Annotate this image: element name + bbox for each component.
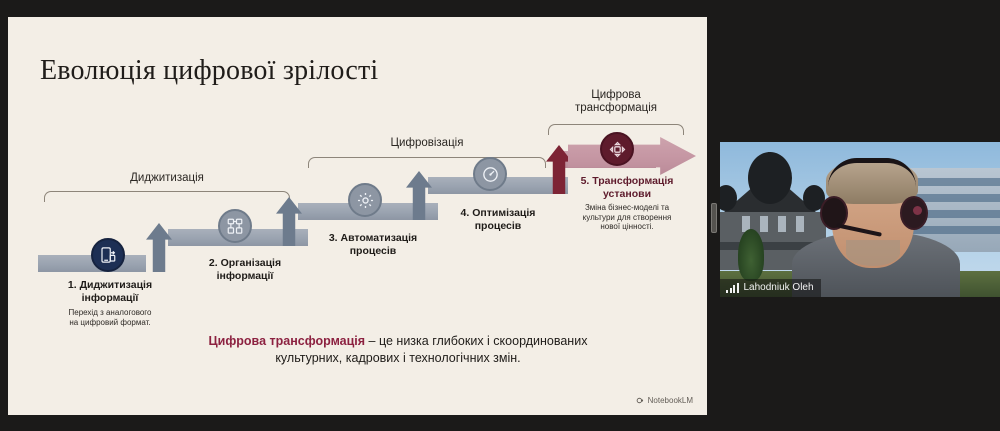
step-1-title: 1. Диджитизація інформації bbox=[30, 279, 190, 304]
caption-highlight: Цифрова трансформація bbox=[209, 334, 366, 348]
signal-bars-icon bbox=[726, 283, 739, 293]
bracket-digitization bbox=[44, 191, 290, 202]
page-title: Еволюція цифрової зрілості bbox=[40, 55, 378, 87]
meeting-screen: Еволюція цифрової зрілості Диджитизація … bbox=[0, 0, 1000, 431]
panel-resize-handle[interactable] bbox=[711, 203, 717, 233]
step-5-icon-transform-arrows-icon bbox=[600, 132, 634, 166]
step-3-icon-gear-icon bbox=[348, 183, 382, 217]
step-3-title: 3. Автоматизація процесів bbox=[303, 232, 443, 257]
bracket-label-transformation: Цифрова трансформація bbox=[548, 89, 684, 115]
bracket-label-digitization: Диджитизація bbox=[44, 172, 290, 185]
notebooklm-logo-icon bbox=[636, 396, 645, 405]
presentation-slide[interactable]: Еволюція цифрової зрілості Диджитизація … bbox=[8, 17, 707, 415]
watermark-label: NotebookLM bbox=[648, 396, 693, 405]
bracket-label-digitalization: Цифровізація bbox=[308, 137, 546, 150]
step-2-title: 2. Організація інформації bbox=[180, 257, 310, 282]
participant-name: Lahodniuk Oleh bbox=[744, 282, 814, 293]
step-4-icon-speedometer-icon bbox=[473, 157, 507, 191]
step-1-icon-mobile-document-icon bbox=[91, 238, 125, 272]
step-4-title: 4. Оптимізація процесів bbox=[433, 207, 563, 232]
participant-video-tile[interactable]: Lahodniuk Oleh bbox=[720, 142, 1000, 297]
participant-name-bar: Lahodniuk Oleh bbox=[720, 279, 821, 297]
slide-caption: Цифрова трансформація – це низка глибоки… bbox=[178, 333, 618, 367]
notebooklm-watermark: NotebookLM bbox=[636, 396, 693, 405]
video-background-tree bbox=[738, 229, 764, 281]
step-1-subtitle: Перехід з аналогового на цифровий формат… bbox=[30, 308, 190, 327]
step-5-title: 5. Трансформація установи bbox=[554, 175, 700, 200]
step-5-subtitle: Зміна бізнес-моделі та культури для ство… bbox=[554, 203, 700, 232]
bracket-digitalization bbox=[308, 157, 546, 168]
participant-webcam-image bbox=[798, 154, 948, 297]
step-2-icon-folder-structure-icon bbox=[218, 209, 252, 243]
